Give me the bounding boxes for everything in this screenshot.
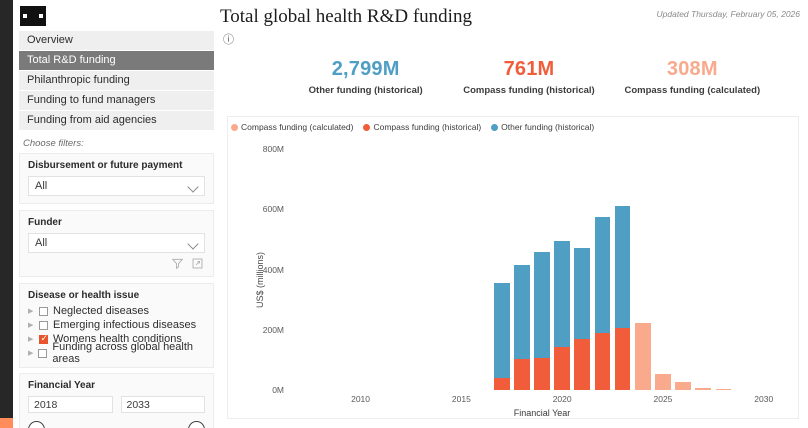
x-axis-tick-label: 2030 bbox=[754, 394, 773, 404]
chart-plot-area bbox=[290, 149, 794, 390]
sidebar: Overview Total R&D funding Philanthropic… bbox=[13, 0, 220, 428]
y-axis-tick-label: 400M bbox=[263, 265, 284, 275]
x-axis-tick-label: 2025 bbox=[653, 394, 672, 404]
financial-year-label: Financial Year bbox=[28, 380, 205, 391]
bar-segment[interactable] bbox=[534, 252, 550, 358]
bar-group[interactable] bbox=[574, 149, 590, 390]
chevron-right-icon[interactable]: ▶ bbox=[28, 307, 34, 315]
bar-group[interactable] bbox=[595, 149, 611, 390]
disbursement-value: All bbox=[35, 180, 47, 192]
dashboard-root: Overview Total R&D funding Philanthropic… bbox=[0, 0, 808, 428]
filter-card-funder: Funder All bbox=[19, 210, 214, 277]
info-icon[interactable]: ⓘ bbox=[223, 31, 234, 47]
kpi-card-compass-funding-historical: 761M Compass funding (historical) bbox=[447, 58, 610, 96]
updated-timestamp: Updated Thursday, February 05, 2026 bbox=[657, 9, 800, 19]
bar-group[interactable] bbox=[494, 149, 510, 390]
left-rail bbox=[0, 0, 13, 418]
legend-item[interactable]: Compass funding (calculated) bbox=[231, 122, 353, 132]
year-from-input[interactable]: 2018 bbox=[28, 396, 113, 413]
legend-swatch-icon bbox=[231, 124, 238, 131]
chart-legend: Compass funding (calculated)Compass fund… bbox=[231, 122, 594, 132]
x-axis-title: Financial Year bbox=[514, 408, 571, 418]
kpi-card-other-funding-historical: 2,799M Other funding (historical) bbox=[284, 58, 447, 96]
bar-segment[interactable] bbox=[514, 359, 530, 390]
funder-label: Funder bbox=[28, 217, 205, 228]
y-axis-tick-label: 600M bbox=[263, 204, 284, 214]
kpi-card-compass-funding-calculated: 308M Compass funding (calculated) bbox=[611, 58, 774, 96]
bar-group[interactable] bbox=[635, 149, 651, 390]
legend-item[interactable]: Other funding (historical) bbox=[491, 122, 594, 132]
legend-label: Compass funding (historical) bbox=[373, 122, 481, 132]
sidebar-item-philanthropic-funding[interactable]: Philanthropic funding bbox=[19, 71, 214, 90]
bar-segment[interactable] bbox=[574, 339, 590, 390]
bar-segment[interactable] bbox=[554, 241, 570, 347]
sidebar-item-label: Funding to fund managers bbox=[27, 94, 155, 106]
legend-label: Compass funding (calculated) bbox=[241, 122, 353, 132]
bar-segment[interactable] bbox=[574, 248, 590, 340]
y-axis-tick-label: 800M bbox=[263, 144, 284, 154]
slider-handle-min[interactable] bbox=[28, 421, 45, 428]
choose-filters-label: Choose filters: bbox=[13, 131, 220, 153]
checkbox[interactable] bbox=[39, 307, 48, 316]
x-axis-tick-label: 2020 bbox=[553, 394, 572, 404]
checkbox-checked[interactable] bbox=[39, 335, 48, 344]
year-to-input[interactable]: 2033 bbox=[121, 396, 206, 413]
bar-segment[interactable] bbox=[635, 323, 651, 390]
bar-segment[interactable] bbox=[695, 388, 711, 390]
sidebar-item-label: Philanthropic funding bbox=[27, 74, 130, 86]
disbursement-select[interactable]: All bbox=[28, 176, 205, 196]
kpi-row: 2,799M Other funding (historical) 761M C… bbox=[284, 58, 774, 96]
kpi-value: 2,799M bbox=[284, 58, 447, 81]
sidebar-item-label: Funding from aid agencies bbox=[27, 114, 157, 126]
kpi-value: 761M bbox=[447, 58, 610, 81]
chart-canvas: 20102015202020252030 Financial Year bbox=[290, 141, 794, 418]
bar-segment[interactable] bbox=[595, 217, 611, 334]
bar-segment[interactable] bbox=[595, 333, 611, 390]
sidebar-item-label: Total R&D funding bbox=[27, 54, 116, 66]
bar-segment[interactable] bbox=[675, 382, 691, 390]
chart-panel: Compass funding (calculated)Compass fund… bbox=[227, 116, 799, 419]
legend-item[interactable]: Compass funding (historical) bbox=[363, 122, 481, 132]
bar-segment[interactable] bbox=[514, 265, 530, 359]
expand-icon[interactable] bbox=[192, 258, 203, 269]
filter-card-disease: Disease or health issue ▶ Neglected dise… bbox=[19, 283, 214, 368]
sidebar-item-funding-from-aid-agencies[interactable]: Funding from aid agencies bbox=[19, 111, 214, 130]
bar-segment[interactable] bbox=[494, 378, 510, 390]
sidebar-item-funding-to-fund-managers[interactable]: Funding to fund managers bbox=[19, 91, 214, 110]
checkbox[interactable] bbox=[38, 349, 47, 358]
kpi-label: Compass funding (historical) bbox=[447, 85, 610, 96]
y-axis-ticks: 0M200M400M600M800M bbox=[242, 141, 284, 418]
chevron-down-icon bbox=[187, 238, 198, 249]
disease-item-label: Neglected diseases bbox=[53, 305, 149, 317]
bar-segment[interactable] bbox=[554, 347, 570, 390]
y-axis-tick-label: 200M bbox=[263, 325, 284, 335]
kpi-value: 308M bbox=[611, 58, 774, 81]
legend-swatch-icon bbox=[363, 124, 370, 131]
legend-label: Other funding (historical) bbox=[501, 122, 594, 132]
disease-item-label: Emerging infectious diseases bbox=[53, 319, 196, 331]
filter-icon[interactable] bbox=[172, 258, 183, 269]
bar-group[interactable] bbox=[534, 149, 550, 390]
bar-segment[interactable] bbox=[534, 358, 550, 390]
disease-item-emerging-infectious-diseases[interactable]: ▶ Emerging infectious diseases bbox=[28, 318, 205, 332]
page-title: Total global health R&D funding bbox=[220, 6, 472, 28]
slider-handle-max[interactable] bbox=[188, 421, 205, 428]
bar-group[interactable] bbox=[655, 149, 671, 390]
bar-group[interactable] bbox=[675, 149, 691, 390]
funder-card-actions bbox=[28, 253, 205, 269]
disease-item-funding-across-global-health-areas[interactable]: ▶ Funding across global health areas bbox=[28, 346, 205, 360]
bar-group[interactable] bbox=[514, 149, 530, 390]
bar-segment[interactable] bbox=[716, 389, 732, 390]
chevron-right-icon[interactable]: ▶ bbox=[28, 335, 34, 343]
financial-year-slider[interactable] bbox=[28, 420, 205, 428]
kpi-label: Other funding (historical) bbox=[284, 85, 447, 96]
sidebar-item-overview[interactable]: Overview bbox=[19, 31, 214, 50]
bar-group[interactable] bbox=[716, 149, 732, 390]
chevron-down-icon bbox=[187, 181, 198, 192]
disease-item-neglected-diseases[interactable]: ▶ Neglected diseases bbox=[28, 304, 205, 318]
sidebar-nav: Overview Total R&D funding Philanthropic… bbox=[13, 31, 220, 130]
main-content: Total global health R&D funding ⓘ Update… bbox=[220, 0, 808, 428]
filter-card-disbursement: Disbursement or future payment All bbox=[19, 153, 214, 204]
disbursement-label: Disbursement or future payment bbox=[28, 160, 205, 171]
disease-item-label: Funding across global health areas bbox=[52, 341, 205, 365]
financial-year-fields: 2018 2033 bbox=[28, 396, 205, 413]
bar-group[interactable] bbox=[554, 149, 570, 390]
bar-segment[interactable] bbox=[655, 374, 671, 390]
checkbox[interactable] bbox=[39, 321, 48, 330]
bar-segment[interactable] bbox=[494, 283, 510, 378]
kpi-label: Compass funding (calculated) bbox=[611, 85, 774, 96]
disease-title: Disease or health issue bbox=[28, 290, 205, 301]
x-axis-tick-label: 2015 bbox=[452, 394, 471, 404]
funder-value: All bbox=[35, 237, 47, 249]
logo-area bbox=[13, 0, 220, 31]
chart-plot: US$ (millions) 0M200M400M600M800M 201020… bbox=[228, 141, 794, 418]
bar-segment[interactable] bbox=[615, 206, 631, 329]
left-rail-accent bbox=[0, 418, 13, 428]
legend-swatch-icon bbox=[491, 124, 498, 131]
bar-segment[interactable] bbox=[615, 328, 631, 390]
chevron-right-icon[interactable]: ▶ bbox=[28, 349, 33, 357]
filter-card-financial-year: Financial Year 2018 2033 bbox=[19, 373, 214, 428]
funder-select[interactable]: All bbox=[28, 233, 205, 253]
chevron-right-icon[interactable]: ▶ bbox=[28, 321, 34, 329]
bar-group[interactable] bbox=[615, 149, 631, 390]
app-logo-icon[interactable] bbox=[20, 6, 46, 26]
bar-group[interactable] bbox=[695, 149, 711, 390]
sidebar-item-label: Overview bbox=[27, 34, 73, 46]
sidebar-item-total-rd-funding[interactable]: Total R&D funding bbox=[19, 51, 214, 70]
y-axis-tick-label: 0M bbox=[272, 385, 284, 395]
x-axis-tick-label: 2010 bbox=[351, 394, 370, 404]
